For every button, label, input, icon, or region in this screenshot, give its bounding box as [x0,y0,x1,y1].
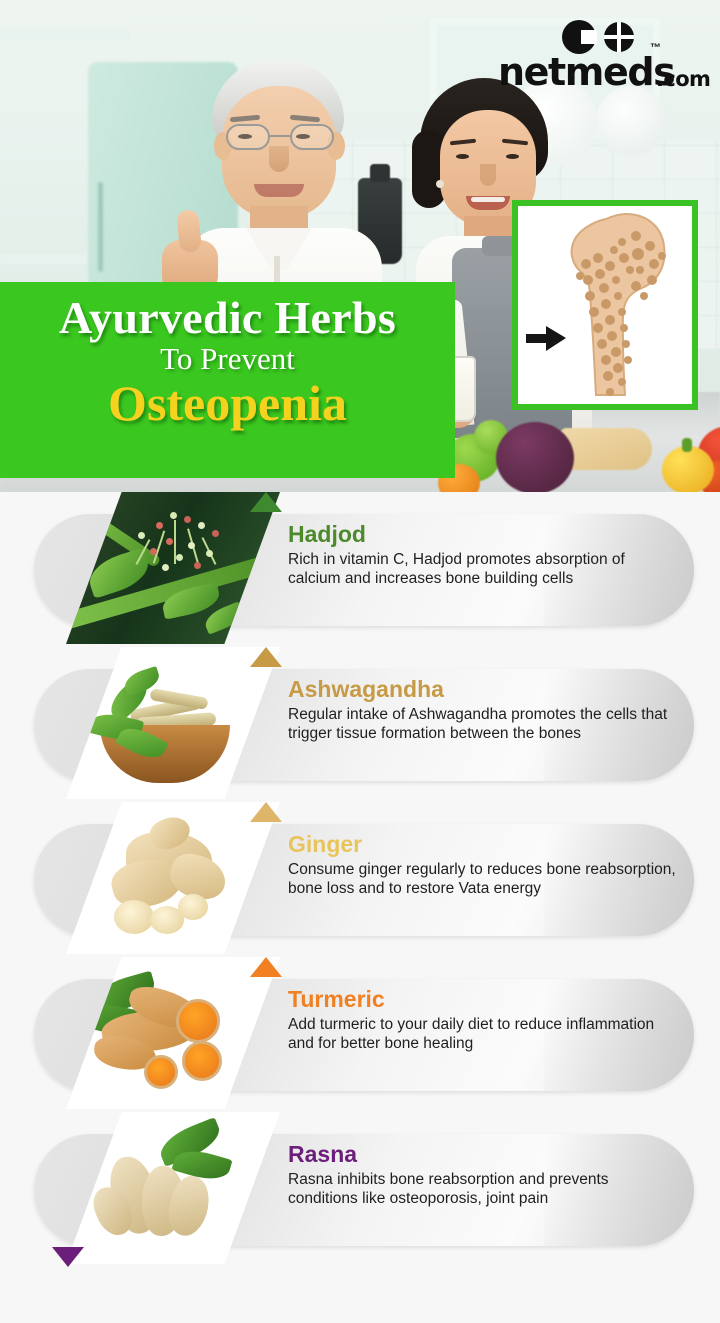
card-title: Ginger [288,832,678,858]
list-item[interactable]: Hadjod Rich in vitamin C, Hadjod promote… [0,492,720,647]
card-title: Ashwagandha [288,677,678,703]
title-line-1: Ayurvedic Herbs [0,294,455,342]
card-body: Rich in vitamin C, Hadjod promotes absor… [288,550,678,589]
card-text: Rasna Rasna inhibits bone reabsorption a… [288,1142,678,1209]
card-body: Add turmeric to your daily diet to reduc… [288,1015,678,1054]
card-body: Consume ginger regularly to reduces bone… [288,860,678,899]
title-line-3: Osteopenia [0,377,455,429]
card-text: Ashwagandha Regular intake of Ashwagandh… [288,677,678,744]
vegetables-on-counter [430,412,720,492]
wall-shelf [0,30,130,39]
right-arrow-icon [526,326,566,351]
accent-triangle-icon [250,802,282,822]
title-line-2: To Prevent [0,342,455,377]
femur-bone-diagram [512,200,698,410]
netmeds-circle-logo [562,20,634,54]
brand-name: netmeds [498,50,674,94]
card-title: Hadjod [288,522,678,548]
accent-triangle-icon [250,957,282,977]
list-item[interactable]: Rasna Rasna inhibits bone reabsorption a… [0,1112,720,1267]
list-item[interactable]: Ashwagandha Regular intake of Ashwagandh… [0,647,720,802]
list-item[interactable]: Ginger Consume ginger regularly to reduc… [0,802,720,957]
bone-cross-section-icon [518,206,692,404]
card-body: Regular intake of Ashwagandha promotes t… [288,705,678,744]
title-banner: Ayurvedic Herbs To Prevent Osteopenia [0,282,455,478]
card-title: Turmeric [288,987,678,1013]
netmeds-logo[interactable]: netmeds ™ .com [498,20,704,94]
accent-triangle-icon [52,1247,84,1267]
card-title: Rasna [288,1142,678,1168]
herb-cards-list: Hadjod Rich in vitamin C, Hadjod promote… [0,492,720,1267]
card-text: Ginger Consume ginger regularly to reduc… [288,832,678,899]
card-text: Hadjod Rich in vitamin C, Hadjod promote… [288,522,678,589]
accent-triangle-icon [250,492,282,512]
list-item[interactable]: Turmeric Add turmeric to your daily diet… [0,957,720,1112]
accent-triangle-icon [250,647,282,667]
card-body: Rasna inhibits bone reabsorption and pre… [288,1170,678,1209]
brand-suffix: .com [656,67,710,91]
card-text: Turmeric Add turmeric to your daily diet… [288,987,678,1054]
trademark-symbol: ™ [650,42,661,54]
